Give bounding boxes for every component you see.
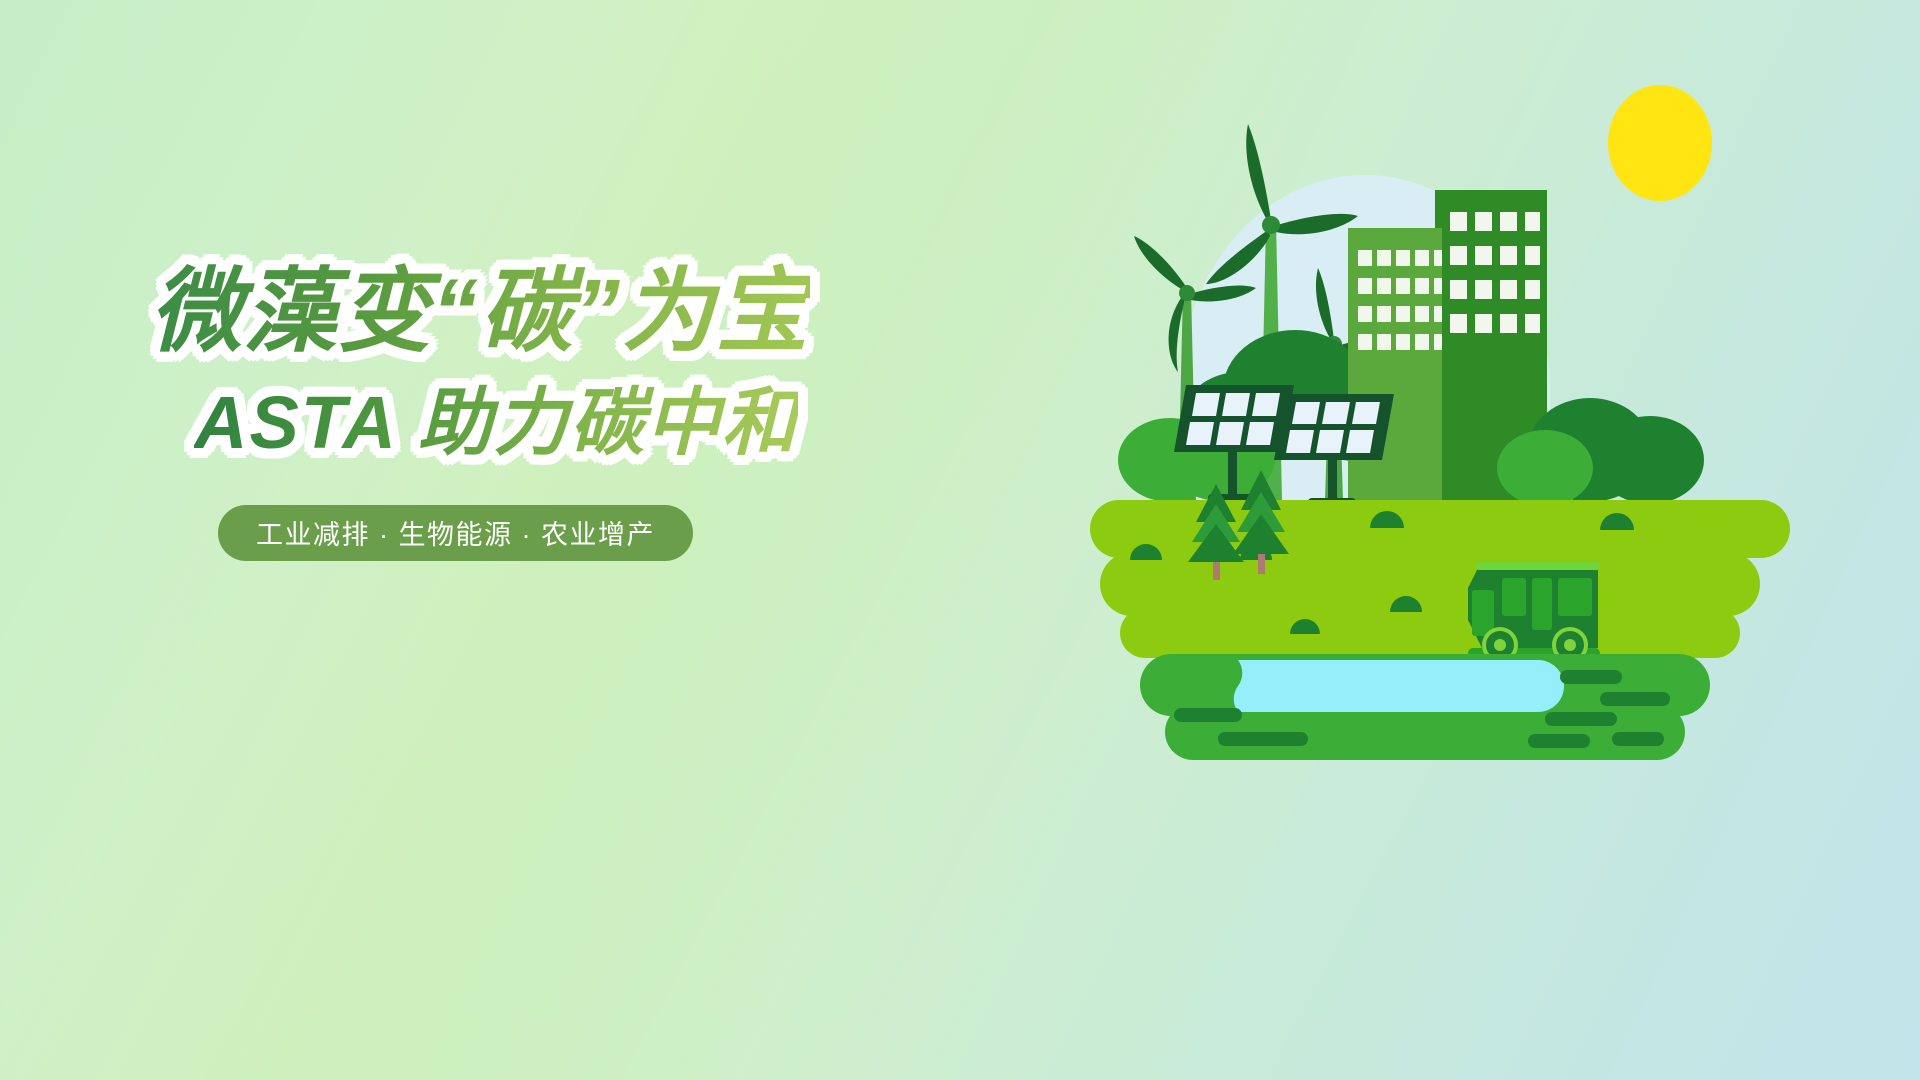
bus-icon [1468,562,1600,661]
building-short [1348,228,1442,502]
lower-island [1140,654,1710,760]
tagline-text: 工业减排 · 生物能源 · 农业增产 [256,513,655,552]
page-subtitle: ASTA 助力碳中和 [194,380,798,465]
page-title: 微藻变“碳”为宝 [150,260,810,366]
tagline-badge: 工业减排 · 生物能源 · 农业增产 [218,505,693,561]
headline-block: 微藻变“碳”为宝 ASTA 助力碳中和 工业减排 · 生物能源 · 农业增产 [150,260,910,561]
eco-city-illustration [1090,60,1790,780]
ground-platform [1090,500,1790,658]
sun-icon [1608,85,1712,201]
eco-banner: 微藻变“碳”为宝 ASTA 助力碳中和 工业减排 · 生物能源 · 农业增产 [0,0,1920,1080]
river [1234,660,1564,712]
